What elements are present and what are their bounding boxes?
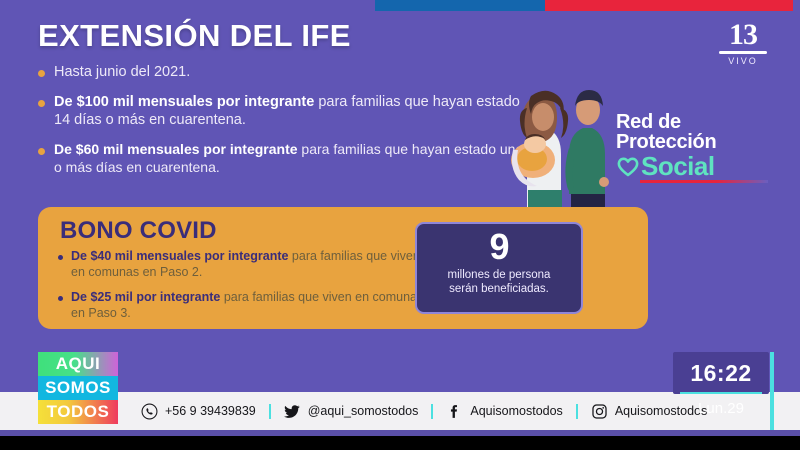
letterbox-bar bbox=[0, 436, 800, 450]
clock-time: 16:22 bbox=[677, 354, 765, 392]
counter-caption: millones de persona serán beneficiadas. bbox=[417, 268, 581, 297]
bullet-dot-icon bbox=[58, 296, 63, 301]
bullet-dot-icon bbox=[58, 255, 63, 260]
flag-bar-red bbox=[545, 0, 793, 11]
bullet-dot-icon bbox=[38, 100, 45, 107]
list-item-text: De $100 mil mensuales por integrante par… bbox=[54, 93, 528, 130]
twitter-icon bbox=[284, 403, 301, 420]
clock-date: Lun.29 bbox=[677, 394, 765, 424]
social-item-whatsapp[interactable]: +56 9 39439839 bbox=[128, 392, 269, 430]
page-title: EXTENSIÓN DEL IFE bbox=[38, 18, 351, 54]
list-item: Hasta junio del 2021. bbox=[38, 63, 528, 82]
social-contact-bar: +56 9 39439839 @aqui_somostodos Aquisomo… bbox=[128, 392, 720, 430]
bono-covid-list: De $40 mil mensuales por integrante para… bbox=[58, 249, 430, 331]
counter-number: 9 bbox=[417, 229, 581, 265]
program-logo-line-1: AQUI bbox=[38, 352, 118, 376]
program-logo: AQUI SOMOS TODOS bbox=[38, 352, 118, 424]
broadcast-screen: EXTENSIÓN DEL IFE Hasta junio del 2021. … bbox=[0, 0, 800, 450]
program-logo-line-2: SOMOS bbox=[38, 376, 118, 400]
ife-bullet-list: Hasta junio del 2021. De $100 mil mensua… bbox=[38, 63, 528, 187]
list-item: De $100 mil mensuales por integrante par… bbox=[38, 93, 528, 130]
clock-widget: 16:22 Lun.29 bbox=[677, 354, 765, 424]
facebook-icon bbox=[446, 403, 463, 420]
channel-logo: 13 VIVO bbox=[708, 20, 778, 66]
bono-covid-title: BONO COVID bbox=[60, 217, 217, 245]
social-item-twitter[interactable]: @aqui_somostodos bbox=[271, 392, 432, 430]
live-badge: VIVO bbox=[708, 56, 778, 66]
bullet-dot-icon bbox=[38, 70, 45, 77]
heart-icon bbox=[616, 155, 640, 177]
list-item-text: De $25 mil por integrante para familias … bbox=[71, 290, 430, 322]
beneficiaries-counter: 9 millones de persona serán beneficiadas… bbox=[415, 222, 583, 314]
social-label: +56 9 39439839 bbox=[165, 404, 256, 418]
campaign-line-3: Social bbox=[641, 153, 715, 179]
list-item-text: De $60 mil mensuales por integrante para… bbox=[54, 141, 528, 177]
list-item: De $25 mil por integrante para familias … bbox=[58, 290, 430, 322]
social-label: @aqui_somostodos bbox=[308, 404, 419, 418]
list-item: De $40 mil mensuales por integrante para… bbox=[58, 249, 430, 281]
channel-underline bbox=[719, 51, 767, 54]
campaign-line-1: Red de bbox=[616, 112, 784, 132]
whatsapp-icon bbox=[141, 403, 158, 420]
list-item-text: Hasta junio del 2021. bbox=[54, 63, 528, 82]
instagram-icon bbox=[591, 403, 608, 420]
social-label: Aquisomostodos bbox=[470, 404, 562, 418]
counter-caption-line-1: millones de persona bbox=[417, 268, 581, 282]
list-item: De $60 mil mensuales por integrante para… bbox=[38, 141, 528, 177]
channel-number: 13 bbox=[708, 20, 778, 50]
campaign-logo: Red de Protección Social bbox=[616, 112, 784, 183]
social-item-facebook[interactable]: Aquisomostodos bbox=[433, 392, 575, 430]
bullet-dot-icon bbox=[38, 148, 45, 155]
campaign-line-2: Protección bbox=[616, 132, 784, 152]
flag-bar-blue bbox=[375, 0, 545, 11]
clock-accent-edge bbox=[770, 352, 774, 430]
counter-caption-line-2: serán beneficiadas. bbox=[417, 282, 581, 296]
list-item-text: De $40 mil mensuales por integrante para… bbox=[71, 249, 430, 281]
program-logo-line-3: TODOS bbox=[38, 400, 118, 424]
